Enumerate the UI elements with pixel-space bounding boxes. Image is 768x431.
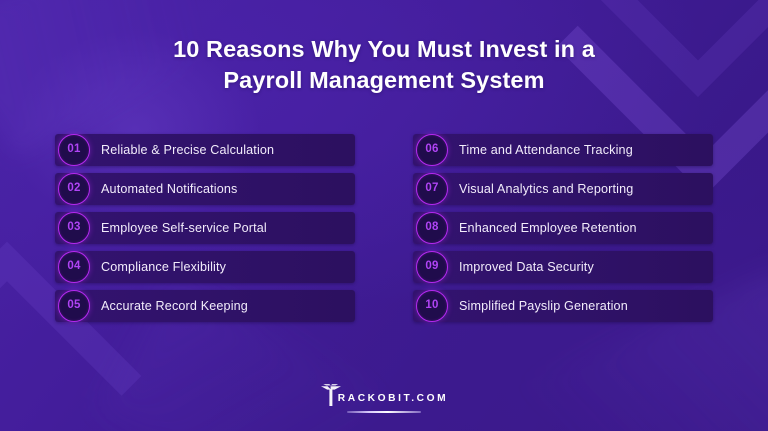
number-badge: 03 (58, 212, 90, 244)
list-item-label: Compliance Flexibility (101, 260, 226, 274)
number-badge-label: 06 (425, 144, 438, 156)
number-badge: 07 (416, 173, 448, 205)
list-item: 09 Improved Data Security (413, 251, 713, 283)
brand-underline (347, 411, 421, 414)
reasons-column-right: 06 Time and Attendance Tracking 07 Visua… (413, 134, 713, 322)
brand-logo: RACKOBIT.COM (320, 383, 448, 407)
number-badge: 10 (416, 290, 448, 322)
list-item: 06 Time and Attendance Tracking (413, 134, 713, 166)
number-badge: 02 (58, 173, 90, 205)
number-badge: 06 (416, 134, 448, 166)
number-badge: 01 (58, 134, 90, 166)
reasons-columns: 01 Reliable & Precise Calculation 02 Aut… (0, 134, 768, 322)
list-item-label: Simplified Payslip Generation (459, 299, 628, 313)
number-badge-label: 04 (67, 261, 80, 273)
list-item-label: Reliable & Precise Calculation (101, 143, 274, 157)
number-badge-label: 01 (67, 144, 80, 156)
list-item: 08 Enhanced Employee Retention (413, 212, 713, 244)
list-item: 07 Visual Analytics and Reporting (413, 173, 713, 205)
list-item: 10 Simplified Payslip Generation (413, 290, 713, 322)
number-badge: 04 (58, 251, 90, 283)
trackobit-t-logo-icon (320, 383, 342, 407)
list-item: 03 Employee Self-service Portal (55, 212, 355, 244)
list-item-label: Visual Analytics and Reporting (459, 182, 633, 196)
title-line-2: Payroll Management System (0, 65, 768, 96)
list-item: 02 Automated Notifications (55, 173, 355, 205)
list-item-label: Employee Self-service Portal (101, 221, 267, 235)
list-item: 01 Reliable & Precise Calculation (55, 134, 355, 166)
list-item-label: Accurate Record Keeping (101, 299, 248, 313)
number-badge-label: 07 (425, 183, 438, 195)
number-badge-label: 09 (425, 261, 438, 273)
footer: RACKOBIT.COM (0, 383, 768, 414)
brand-name: RACKOBIT.COM (338, 392, 448, 407)
number-badge: 08 (416, 212, 448, 244)
list-item-label: Automated Notifications (101, 182, 237, 196)
reasons-column-left: 01 Reliable & Precise Calculation 02 Aut… (55, 134, 355, 322)
number-badge-label: 08 (425, 222, 438, 234)
list-item: 04 Compliance Flexibility (55, 251, 355, 283)
list-item-label: Enhanced Employee Retention (459, 221, 637, 235)
number-badge-label: 10 (425, 300, 438, 312)
title-line-1: 10 Reasons Why You Must Invest in a (0, 34, 768, 65)
infographic-poster: 10 Reasons Why You Must Invest in a Payr… (0, 0, 768, 431)
list-item-label: Improved Data Security (459, 260, 594, 274)
list-item-label: Time and Attendance Tracking (459, 143, 633, 157)
number-badge-label: 05 (67, 300, 80, 312)
number-badge-label: 02 (67, 183, 80, 195)
number-badge-label: 03 (67, 222, 80, 234)
page-title: 10 Reasons Why You Must Invest in a Payr… (0, 34, 768, 96)
number-badge: 05 (58, 290, 90, 322)
list-item: 05 Accurate Record Keeping (55, 290, 355, 322)
number-badge: 09 (416, 251, 448, 283)
